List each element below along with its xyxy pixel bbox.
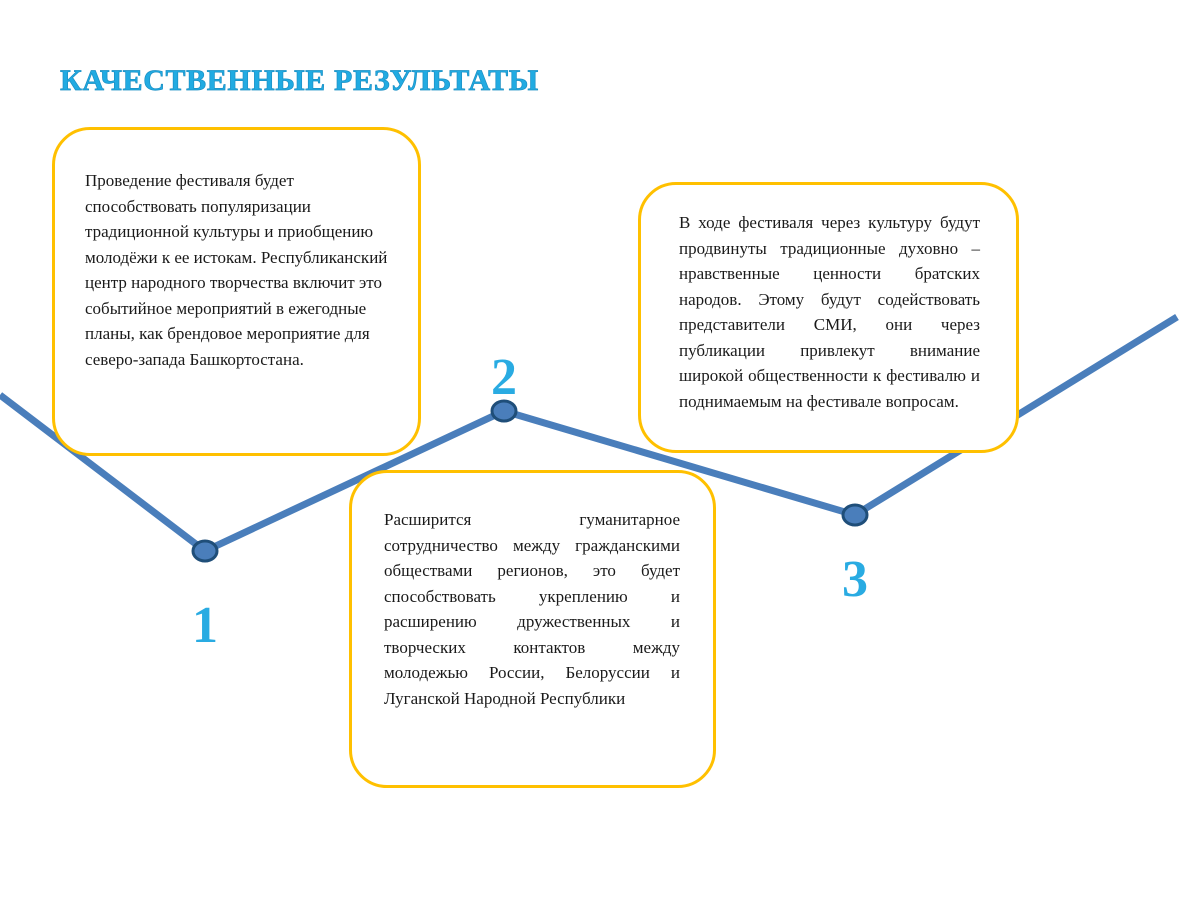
callout-text-2: Расширится гуманитарное сотрудничество м… [384,507,680,711]
page-title: КАЧЕСТВЕННЫЕ РЕЗУЛЬТАТЫ [60,64,539,98]
callout-text-3: В ходе фестиваля через культуру будут пр… [679,210,980,414]
callout-text-1: Проведение фестиваля будет способствоват… [85,168,392,372]
slide-canvas: КАЧЕСТВЕННЫЕ РЕЗУЛЬТАТЫ Проведение фести… [0,0,1200,900]
step-number-2: 2 [474,352,534,404]
step-marker-dot-3 [843,505,867,525]
callout-box-3: В ходе фестиваля через культуру будут пр… [638,182,1019,453]
step-number-1: 1 [175,600,235,652]
callout-box-1: Проведение фестиваля будет способствоват… [52,127,421,456]
step-marker-dot-1 [193,541,217,561]
callout-box-2: Расширится гуманитарное сотрудничество м… [349,470,716,788]
step-number-3: 3 [825,554,885,606]
